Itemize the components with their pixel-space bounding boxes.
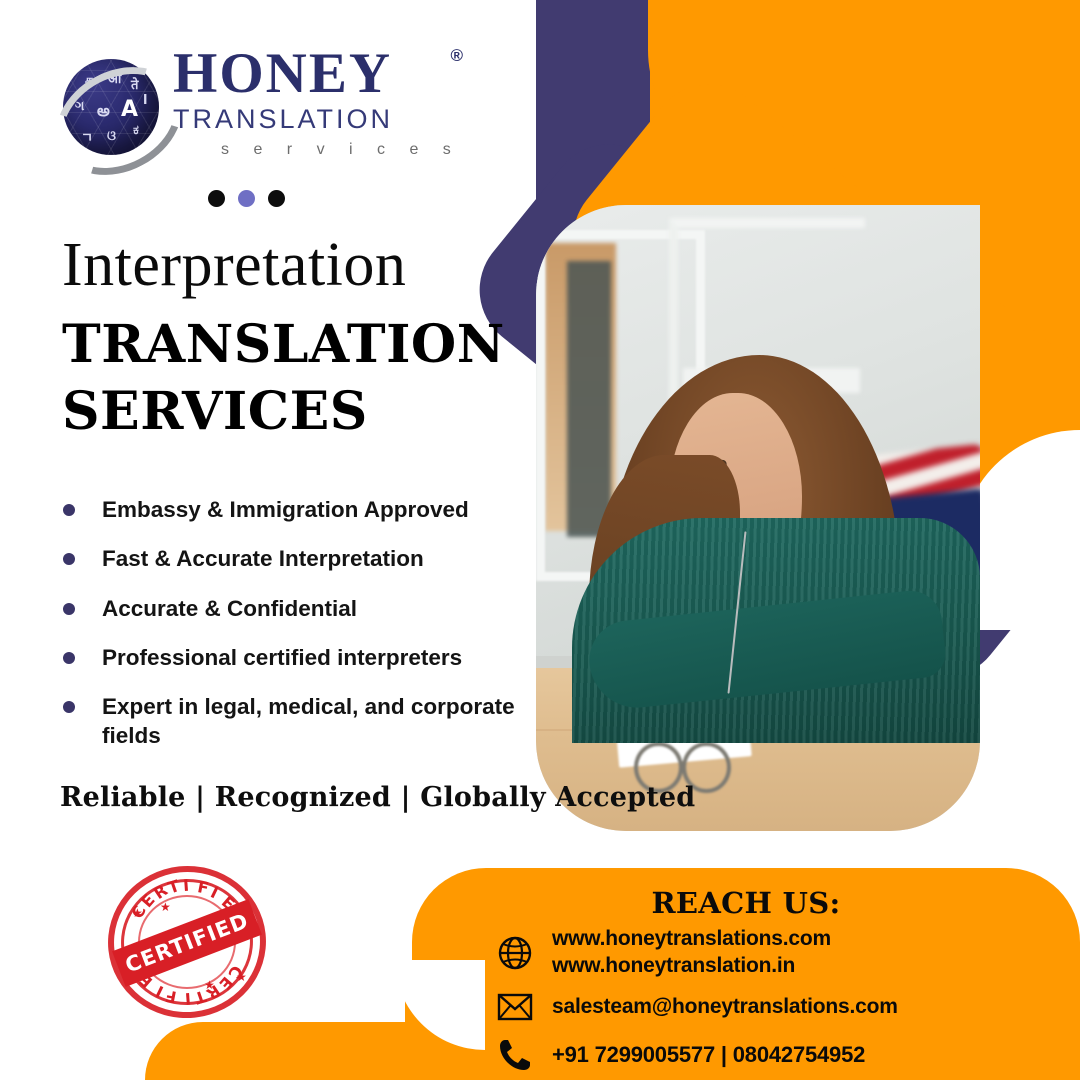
list-item-label: Professional certified interpreters <box>102 645 462 670</box>
contact-website-text: www.honeytranslations.com www.honeytrans… <box>552 926 831 979</box>
bullet-icon <box>63 603 75 615</box>
decorative-dots <box>208 190 285 207</box>
contact-phone-text[interactable]: +91 7299005577 | 08042754952 <box>552 1041 865 1069</box>
globe-icon: க आ ते ગ అ A ا ㄱ ଓ ಕ <box>55 53 167 165</box>
dot-2 <box>238 190 255 207</box>
brand-name-primary-text: HONEY <box>173 42 392 105</box>
list-item-label: Fast & Accurate Interpretation <box>102 546 424 571</box>
website-line-1[interactable]: www.honeytranslations.com <box>552 927 831 950</box>
contact-row-email[interactable]: salesteam@honeytranslations.com <box>496 988 898 1026</box>
list-item: Embassy & Immigration Approved <box>55 495 525 524</box>
list-item: Accurate & Confidential <box>55 594 525 623</box>
bullet-icon <box>63 504 75 516</box>
list-item-label: Accurate & Confidential <box>102 596 357 621</box>
contact-heading: REACH US: <box>412 886 1080 920</box>
headline-script: Interpretation <box>62 234 406 296</box>
list-item: Professional certified interpreters <box>55 643 525 672</box>
dot-3 <box>268 190 285 207</box>
phone-icon <box>496 1036 534 1074</box>
brand-name-tertiary: s e r v i c e s <box>173 142 463 158</box>
list-item: Expert in legal, medical, and corporate … <box>55 692 525 751</box>
feature-list: Embassy & Immigration Approved Fast & Ac… <box>55 495 525 771</box>
brand-name-primary: HONEY ® <box>173 45 463 102</box>
dot-1 <box>208 190 225 207</box>
website-line-2[interactable]: www.honeytranslation.in <box>552 954 795 977</box>
tagline: Reliable | Recognized | Globally Accepte… <box>60 782 695 813</box>
bullet-icon <box>63 701 75 713</box>
list-item-label: Embassy & Immigration Approved <box>102 497 469 522</box>
list-item: Fast & Accurate Interpretation <box>55 544 525 573</box>
bullet-icon <box>63 652 75 664</box>
contact-panel: REACH US: www.honeytranslations.com www.… <box>412 868 1080 1080</box>
certified-stamp-icon: C E R T I F I E D C E R T I F I E D ★ ★ … <box>108 866 266 1018</box>
list-item-label: Expert in legal, medical, and corporate … <box>102 694 515 748</box>
headline-bold-line-2: SERVICES <box>62 379 505 446</box>
brand-wordmark: HONEY ® TRANSLATION s e r v i c e s <box>173 45 463 158</box>
contact-row-phone[interactable]: +91 7299005577 | 08042754952 <box>496 1036 865 1074</box>
brand-name-secondary: TRANSLATION <box>173 106 463 133</box>
page-title: TRANSLATION SERVICES <box>62 312 505 445</box>
bullet-icon <box>63 553 75 565</box>
contact-email-text[interactable]: salesteam@honeytranslations.com <box>552 994 898 1021</box>
headline-bold-line-1: TRANSLATION <box>62 312 505 379</box>
hero-photo <box>536 205 980 831</box>
envelope-icon <box>496 988 534 1026</box>
registered-trademark-icon: ® <box>450 47 465 64</box>
brand-logo: க आ ते ગ అ A ا ㄱ ଓ ಕ HONEY ® TRANSLATION… <box>55 45 455 180</box>
poster-canvas: க आ ते ગ అ A ا ㄱ ଓ ಕ HONEY ® TRANSLATION… <box>0 0 1080 1080</box>
contact-row-website[interactable]: www.honeytranslations.com www.honeytrans… <box>496 926 831 979</box>
globe-icon <box>496 934 534 972</box>
